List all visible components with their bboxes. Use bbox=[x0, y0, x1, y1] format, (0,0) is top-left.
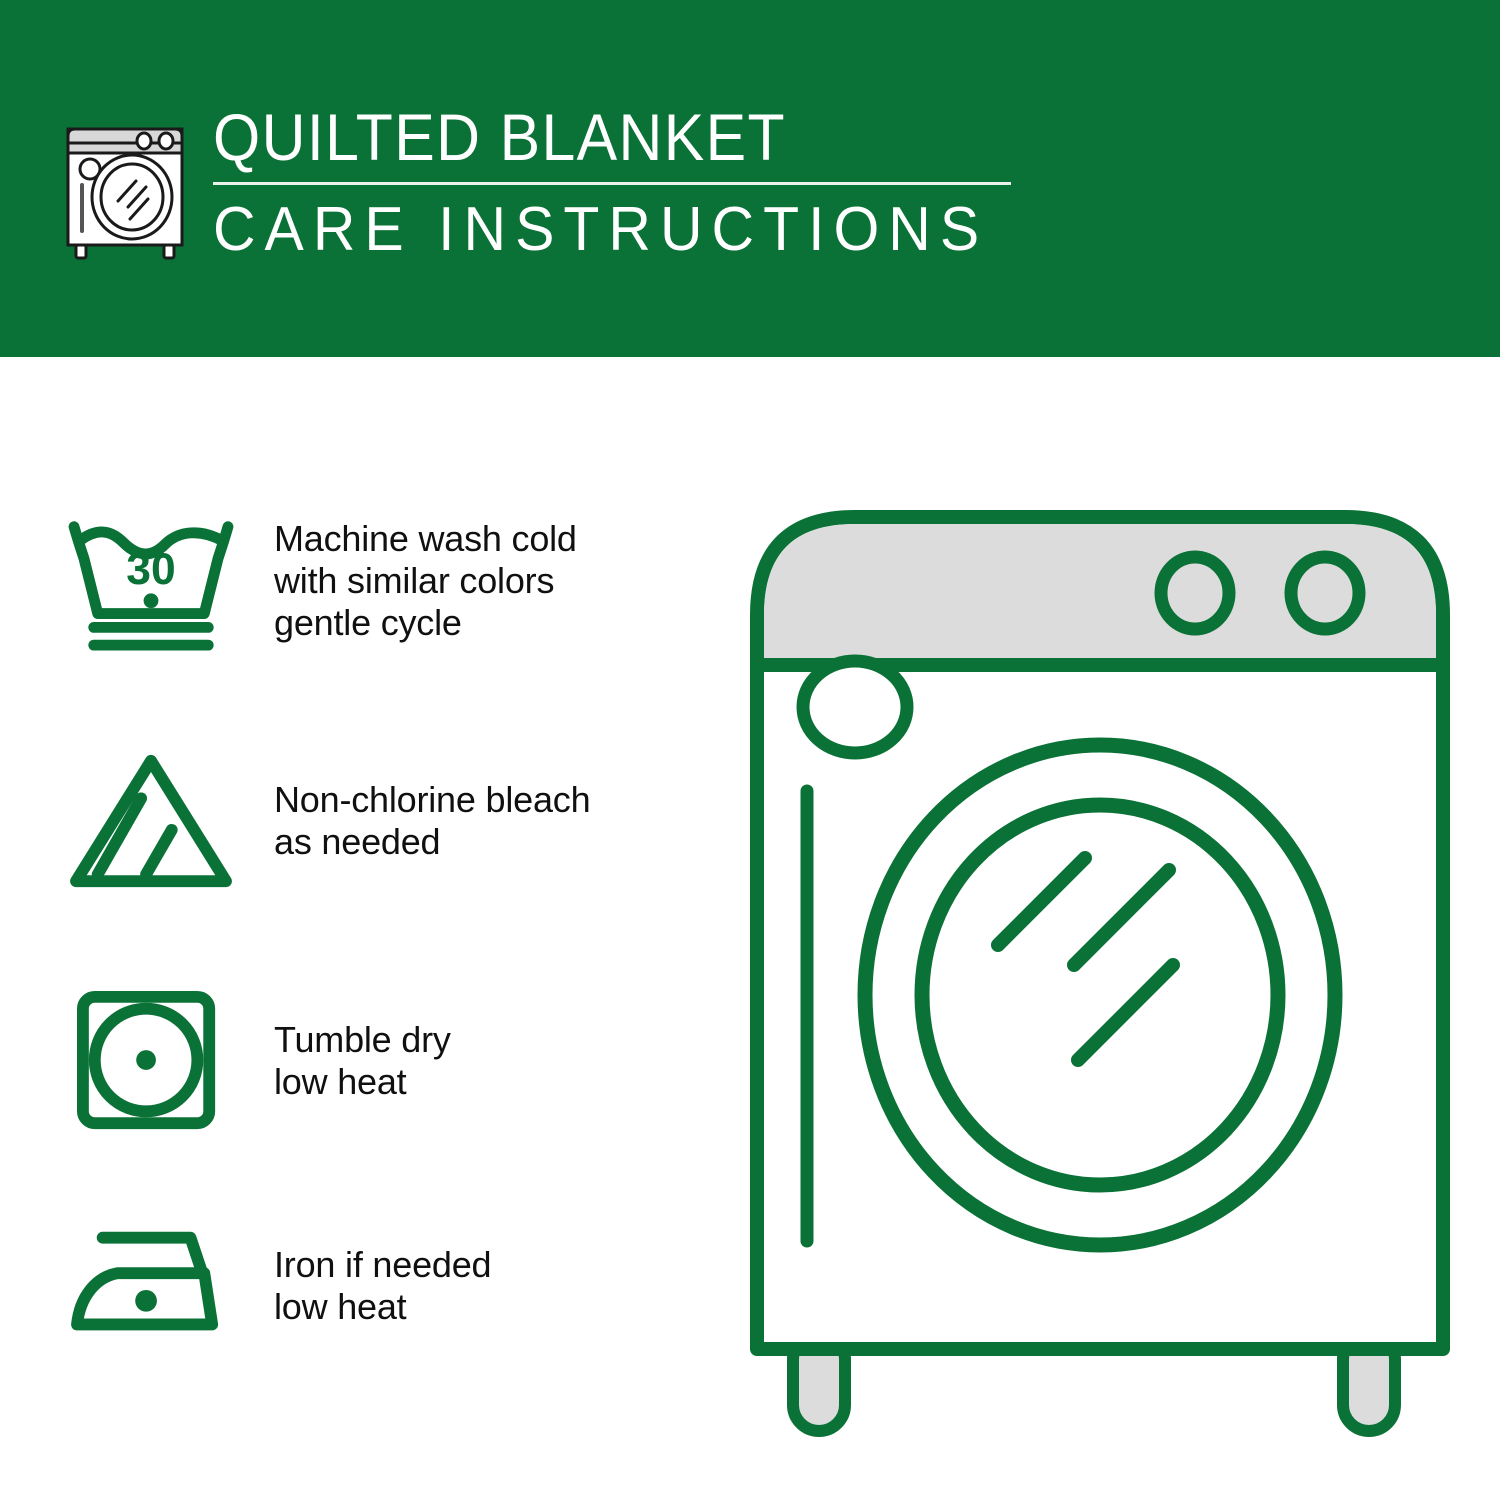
page-subtitle: CARE INSTRUCTIONS bbox=[213, 195, 992, 265]
care-instructions-infographic: QUILTED BLANKET CARE INSTRUCTIONS bbox=[0, 0, 1500, 1500]
care-instruction-list: 30 Machine wash cold with similar colors… bbox=[0, 357, 740, 1500]
front-load-washing-machine-illustration bbox=[745, 495, 1465, 1445]
machine-knob-left bbox=[1161, 557, 1229, 629]
machine-drum-inner-ring bbox=[922, 805, 1278, 1185]
page-title: QUILTED BLANKET bbox=[213, 100, 967, 174]
iron-low-heat-icon bbox=[62, 1212, 262, 1360]
tumble-dry-low-heat-icon bbox=[62, 987, 262, 1135]
care-row-tumble-dry: Tumble dry low heat bbox=[0, 987, 720, 1135]
care-row-bleach: Non-chlorine bleach as needed bbox=[0, 747, 720, 895]
machine-knob-right bbox=[1291, 557, 1359, 629]
title-divider bbox=[213, 182, 1011, 185]
wash-tub-30-gentle-icon: 30 bbox=[62, 507, 262, 655]
care-row-tumble-dry-label: Tumble dry low heat bbox=[274, 1019, 720, 1103]
care-row-bleach-label: Non-chlorine bleach as needed bbox=[274, 779, 720, 863]
care-row-iron: Iron if needed low heat bbox=[0, 1212, 720, 1360]
care-row-wash-label: Machine wash cold with similar colors ge… bbox=[274, 518, 720, 644]
wash-temperature-value: 30 bbox=[126, 545, 175, 594]
machine-dispenser-dial bbox=[803, 661, 907, 753]
washing-machine-icon bbox=[62, 103, 194, 261]
care-row-iron-label: Iron if needed low heat bbox=[274, 1244, 720, 1328]
care-row-wash: 30 Machine wash cold with similar colors… bbox=[0, 507, 720, 655]
non-chlorine-bleach-triangle-icon bbox=[62, 747, 262, 895]
header-text-block: QUILTED BLANKET CARE INSTRUCTIONS bbox=[213, 100, 1033, 265]
header-band: QUILTED BLANKET CARE INSTRUCTIONS bbox=[0, 0, 1500, 357]
